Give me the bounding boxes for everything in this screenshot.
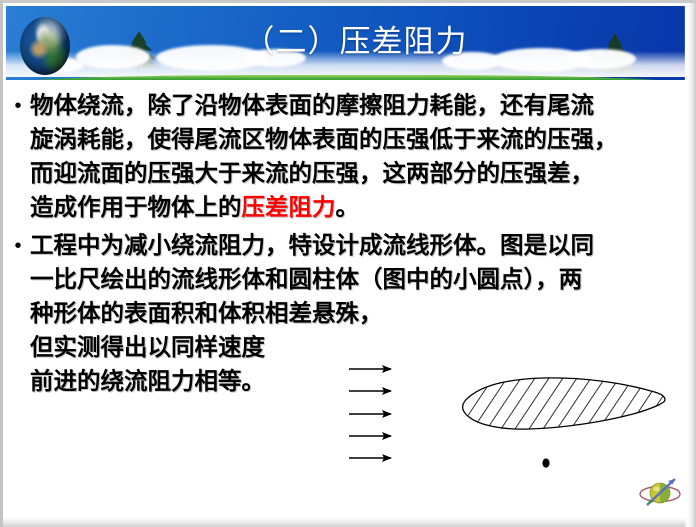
slide-canvas: （二）压差阻力 • 物体绕流，除了沿物体表面的摩擦阻力耗能，还有尾流 旋涡耗能，… xyxy=(0,0,696,527)
text-run: 前进的绕流阻力相等。 xyxy=(30,369,265,395)
bullet-marker: • xyxy=(6,89,30,123)
text-line: 造成作用于物体上的压差阻力。 xyxy=(30,191,685,225)
text-run-highlight: 压差阻力 xyxy=(242,195,336,221)
bullet-item: • 物体绕流，除了沿物体表面的摩擦阻力耗能，还有尾流 旋涡耗能，使得尾流区物体表… xyxy=(6,89,685,225)
text-line: 旋涡耗能，使得尾流区物体表面的压强低于来流的压强， xyxy=(30,123,685,157)
slide-header-banner: （二）压差阻力 xyxy=(6,6,685,85)
slide-bottom-shadow xyxy=(3,517,696,527)
text-line: 而迎流面的压强大于来流的压强，这两部分的压强差， xyxy=(30,157,685,191)
bullet-marker: • xyxy=(6,229,30,263)
text-run: 一比尺绘出的流线形体和圆柱体（图中的小圆点），两 xyxy=(30,267,582,293)
text-run: 工程中为减小绕流阻力，特设计成流线形体。图是以同 xyxy=(30,233,594,259)
text-run: 种形体的表面积和体积相差悬殊， xyxy=(30,301,383,327)
hatched-streamlined-body xyxy=(443,363,693,453)
text-line: 一比尺绘出的流线形体和圆柱体（图中的小圆点），两 xyxy=(30,263,685,297)
text-run: 物体绕流，除了沿物体表面的摩擦阻力耗能，还有尾流 xyxy=(30,93,594,119)
flow-arrow-group xyxy=(349,369,391,458)
text-run: 但实测得出以同样速度 xyxy=(30,335,265,361)
text-run: 。 xyxy=(336,195,360,221)
text-line: 种形体的表面积和体积相差悬殊， xyxy=(30,297,685,331)
text-line: 工程中为减小绕流阻力，特设计成流线形体。图是以同 xyxy=(30,229,685,263)
text-run: 而迎流面的压强大于来流的压强，这两部分的压强差， xyxy=(30,161,594,187)
text-run: 造成作用于物体上的 xyxy=(30,195,242,221)
orbit-sphere-logo[interactable] xyxy=(637,471,683,515)
bullet-text: 物体绕流，除了沿物体表面的摩擦阻力耗能，还有尾流 旋涡耗能，使得尾流区物体表面的… xyxy=(30,89,685,225)
cylinder-point xyxy=(542,458,549,467)
page-title: （二）压差阻力 xyxy=(6,6,685,85)
text-line: 物体绕流，除了沿物体表面的摩擦阻力耗能，还有尾流 xyxy=(30,89,685,123)
text-run: 旋涡耗能，使得尾流区物体表面的压强低于来流的压强， xyxy=(30,127,618,153)
